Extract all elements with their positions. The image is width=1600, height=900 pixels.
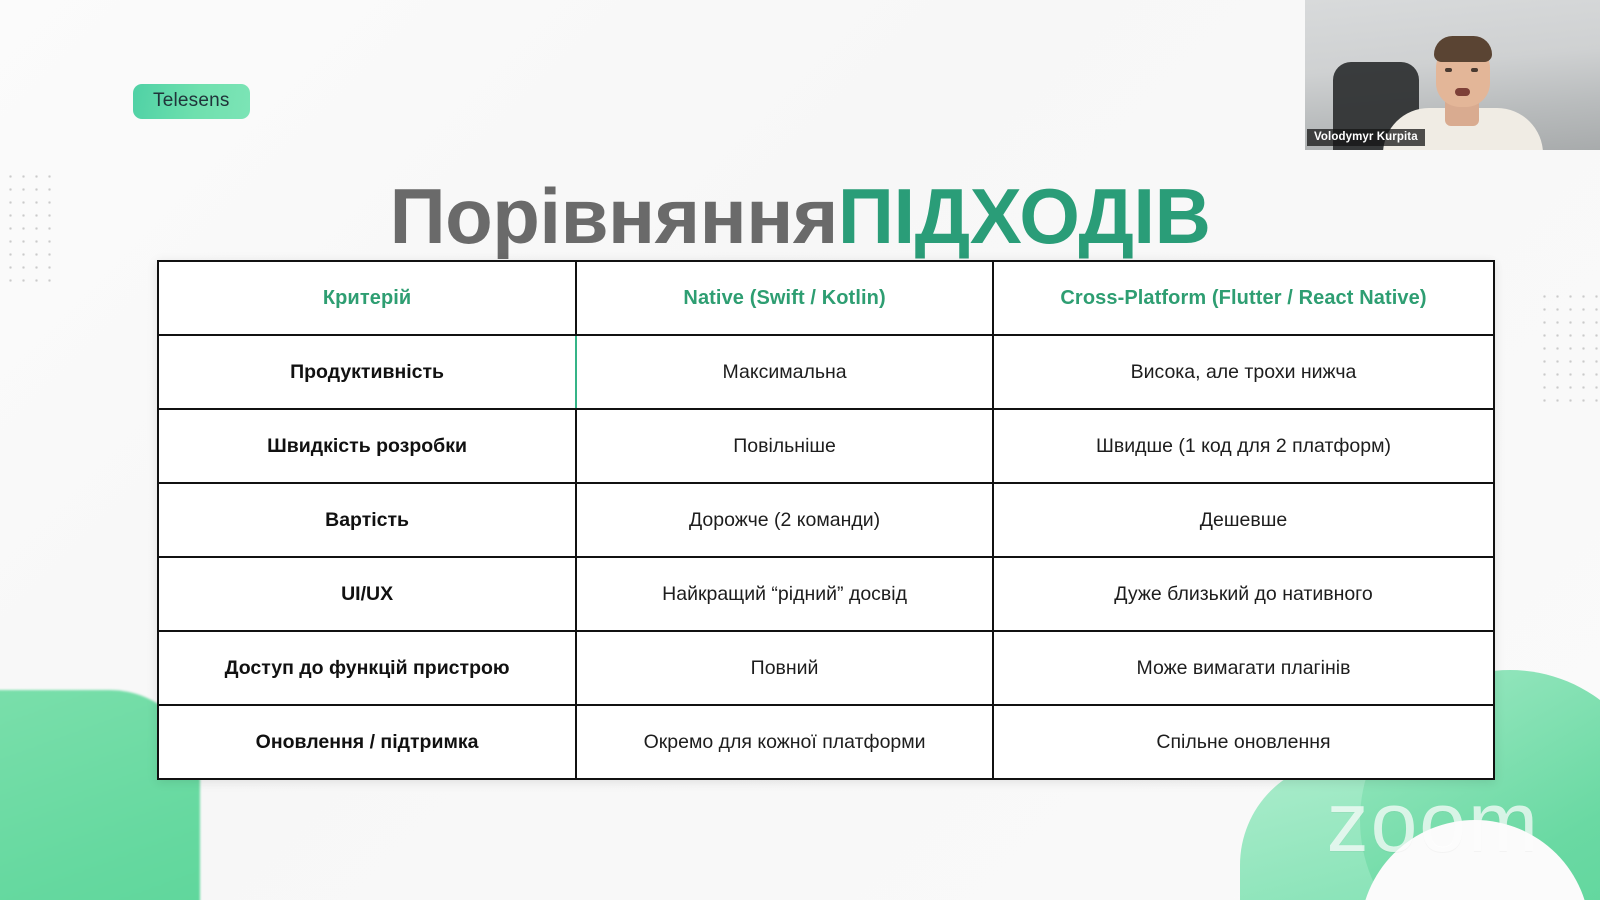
cell-criterion: Оновлення / підтримка bbox=[158, 705, 576, 779]
cell-native: Найкращий “рідний” досвід bbox=[576, 557, 993, 631]
cell-cross: Дуже близький до нативного bbox=[993, 557, 1494, 631]
table-row: Оновлення / підтримка Окремо для кожної … bbox=[158, 705, 1494, 779]
table-row: Доступ до функцій пристрою Повний Може в… bbox=[158, 631, 1494, 705]
cell-criterion: Вартість bbox=[158, 483, 576, 557]
title-part-green: підходів bbox=[838, 172, 1211, 260]
left-eye bbox=[1445, 68, 1452, 72]
table-row: Вартість Дорожче (2 команди) Дешевше bbox=[158, 483, 1494, 557]
table-header-row: Критерій Native (Swift / Kotlin) Cross-P… bbox=[158, 261, 1494, 335]
cell-cross: Може вимагати плагінів bbox=[993, 631, 1494, 705]
right-eye bbox=[1471, 68, 1478, 72]
page-title: Порівнянняпідходів bbox=[0, 176, 1600, 258]
column-header-cross-platform: Cross-Platform (Flutter / React Native) bbox=[993, 261, 1494, 335]
participant-avatar-image bbox=[1305, 0, 1600, 150]
cell-cross: Швидше (1 код для 2 платформ) bbox=[993, 409, 1494, 483]
brand-badge: Telesens bbox=[133, 84, 250, 119]
cell-native: Повний bbox=[576, 631, 993, 705]
green-ring-hole-decoration bbox=[1360, 820, 1590, 900]
participant-video-tile[interactable]: Volodymyr Kurpita bbox=[1305, 0, 1600, 150]
zoom-watermark: zoom bbox=[1327, 780, 1540, 864]
comparison-table: Критерій Native (Swift / Kotlin) Cross-P… bbox=[157, 260, 1495, 780]
cell-native: Окремо для кожної платформи bbox=[576, 705, 993, 779]
cell-native: Дорожче (2 команди) bbox=[576, 483, 993, 557]
column-header-native: Native (Swift / Kotlin) bbox=[576, 261, 993, 335]
cell-cross: Дешевше bbox=[993, 483, 1494, 557]
column-header-criterion: Критерій bbox=[158, 261, 576, 335]
dot-grid-right-decoration bbox=[1538, 290, 1600, 408]
cell-criterion: Швидкість розробки bbox=[158, 409, 576, 483]
hair-shape bbox=[1434, 36, 1492, 62]
title-part-grey: Порівняння bbox=[390, 172, 838, 260]
cell-criterion: UI/UX bbox=[158, 557, 576, 631]
table-row: Швидкість розробки Повільніше Швидше (1 … bbox=[158, 409, 1494, 483]
cell-criterion: Доступ до функцій пристрою bbox=[158, 631, 576, 705]
table-row: UI/UX Найкращий “рідний” досвід Дуже бли… bbox=[158, 557, 1494, 631]
presentation-slide: zoom Telesens Порівнянняпідходів Критері… bbox=[0, 0, 1600, 900]
mouth-shape bbox=[1455, 88, 1470, 96]
cell-native: Максимальна bbox=[576, 335, 993, 409]
participant-name-label: Volodymyr Kurpita bbox=[1307, 129, 1425, 146]
table-body: Продуктивність Максимальна Висока, але т… bbox=[158, 335, 1494, 779]
table-row: Продуктивність Максимальна Висока, але т… bbox=[158, 335, 1494, 409]
comparison-table-container: Критерій Native (Swift / Kotlin) Cross-P… bbox=[157, 260, 1495, 780]
table-header: Критерій Native (Swift / Kotlin) Cross-P… bbox=[158, 261, 1494, 335]
green-blob-bottom-right-decoration bbox=[1240, 760, 1450, 900]
cell-cross: Висока, але трохи нижча bbox=[993, 335, 1494, 409]
cell-criterion: Продуктивність bbox=[158, 335, 576, 409]
cell-native: Повільніше bbox=[576, 409, 993, 483]
cell-cross: Спільне оновлення bbox=[993, 705, 1494, 779]
